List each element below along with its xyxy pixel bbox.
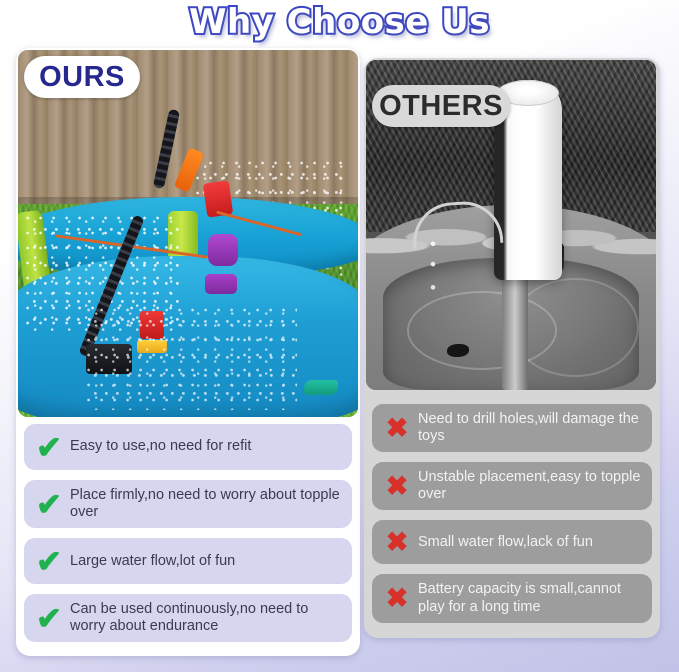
water-ripple-2: [511, 278, 639, 377]
water-drip: [430, 238, 436, 296]
ours-feature-list: ✔ Easy to use,no need for refit ✔ Place …: [24, 424, 352, 652]
cross-icon: ✖: [381, 473, 413, 500]
list-item: ✖ Need to drill holes,will damage the to…: [372, 404, 652, 452]
ours-product-photo: [18, 50, 358, 417]
check-icon: ✔: [33, 546, 65, 577]
list-item: ✔ Can be used continuously,no need to wo…: [24, 594, 352, 642]
check-icon: ✔: [33, 432, 65, 463]
list-item-label: Battery capacity is small,cannot play fo…: [413, 581, 643, 615]
list-item: ✔ Large water flow,lot of fun: [24, 538, 352, 584]
check-icon: ✔: [33, 603, 65, 634]
cross-icon: ✖: [381, 415, 413, 442]
list-item: ✖ Unstable placement,easy to topple over: [372, 462, 652, 510]
others-feature-list: ✖ Need to drill holes,will damage the to…: [372, 404, 652, 633]
cross-icon: ✖: [381, 529, 413, 556]
list-item-label: Place firmly,no need to worry about topp…: [65, 487, 343, 521]
list-item-label: Easy to use,no need for refit: [65, 438, 251, 455]
list-item-label: Can be used continuously,no need to worr…: [65, 601, 343, 635]
list-item-label: Large water flow,lot of fun: [65, 553, 235, 570]
purple-toy-piece-2: [205, 274, 237, 294]
water-spray-bottom: [86, 307, 297, 410]
page-title: Why Choose Us: [189, 1, 490, 43]
list-item: ✖ Battery capacity is small,cannot play …: [372, 574, 652, 622]
pump-downtube: [502, 265, 528, 390]
list-item-label: Small water flow,lack of fun: [413, 534, 593, 551]
title-bar: Why Choose Us: [0, 1, 679, 45]
ours-badge: OURS: [24, 56, 140, 98]
list-item: ✔ Place firmly,no need to worry about to…: [24, 480, 352, 528]
dark-debris-speck: [447, 344, 469, 357]
others-badge: OTHERS: [372, 85, 510, 127]
teal-toy-piece: [304, 380, 338, 395]
purple-toy-piece: [208, 234, 238, 266]
list-item-label: Need to drill holes,will damage the toys: [413, 411, 643, 445]
list-item: ✖ Small water flow,lack of fun: [372, 520, 652, 564]
list-item: ✔ Easy to use,no need for refit: [24, 424, 352, 470]
cross-icon: ✖: [381, 585, 413, 612]
check-icon: ✔: [33, 489, 65, 520]
list-item-label: Unstable placement,easy to topple over: [413, 469, 643, 503]
